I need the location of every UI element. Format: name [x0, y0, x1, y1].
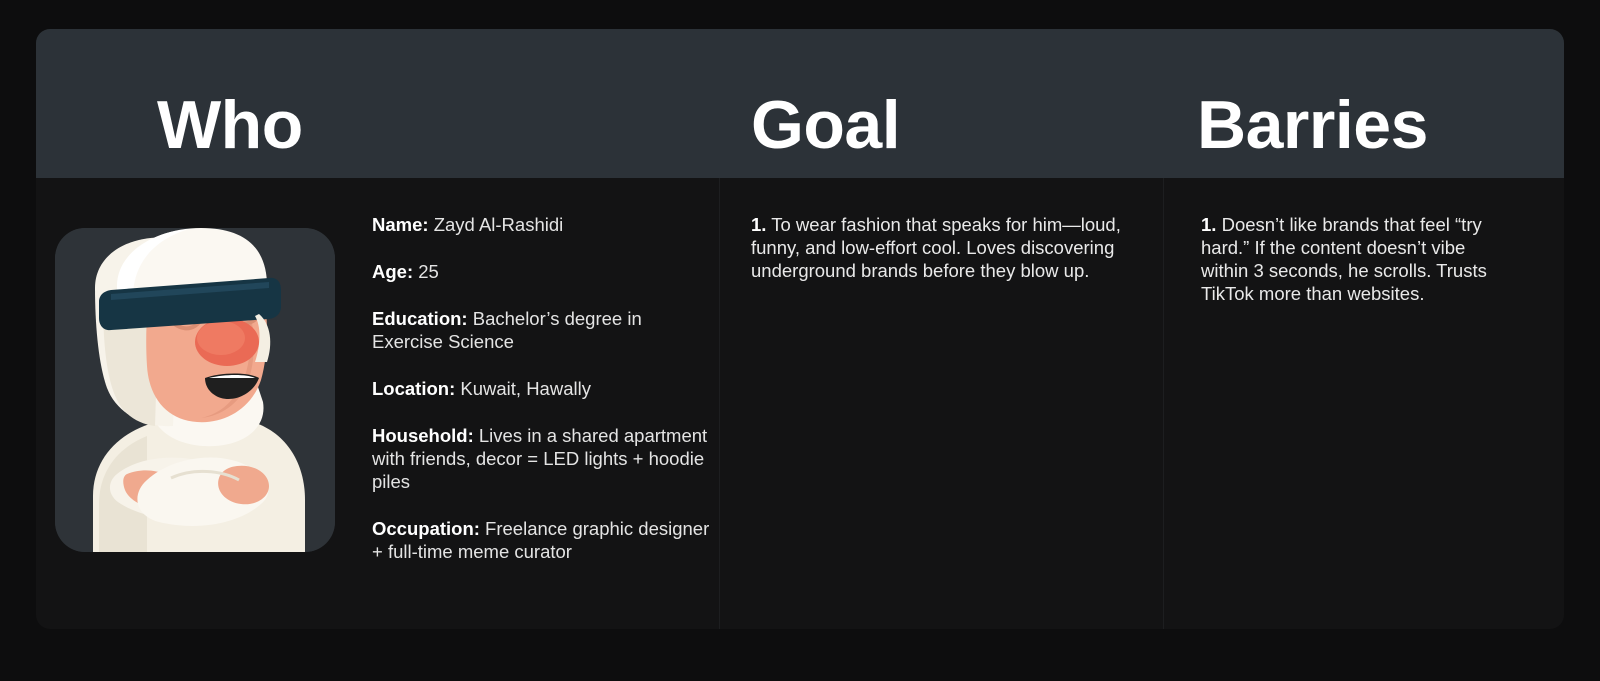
detail-row-education: Education: Bachelor’s degree in Exercise… [372, 307, 712, 353]
detail-row-age: Age: 25 [372, 260, 712, 283]
persona-card: Who Goal Barries [36, 29, 1564, 629]
column-goal: 1. To wear fashion that speaks for him—l… [719, 178, 1163, 629]
detail-value: Zayd Al-Rashidi [429, 214, 564, 235]
persona-avatar [55, 228, 335, 552]
detail-row-location: Location: Kuwait, Hawally [372, 377, 712, 400]
column-heading-goal: Goal [751, 91, 900, 159]
card-body: Name: Zayd Al-Rashidi Age: 25 Education:… [36, 178, 1564, 629]
column-heading-barries: Barries [1197, 91, 1428, 159]
detail-value: 25 [413, 261, 439, 282]
goal-item: 1. To wear fashion that speaks for him—l… [751, 213, 1131, 282]
detail-label: Age: [372, 261, 413, 282]
barries-item: 1. Doesn’t like brands that feel “try ha… [1201, 213, 1501, 305]
detail-label: Location: [372, 378, 455, 399]
column-heading-who: Who [157, 91, 303, 159]
barries-item-number: 1. [1201, 214, 1216, 235]
detail-label: Education: [372, 308, 468, 329]
detail-label: Occupation: [372, 518, 480, 539]
detail-row-occupation: Occupation: Freelance graphic designer +… [372, 517, 712, 563]
detail-row-household: Household: Lives in a shared apartment w… [372, 424, 712, 493]
detail-label: Name: [372, 214, 429, 235]
avatar-illustration-icon [55, 228, 335, 552]
card-header: Who Goal Barries [36, 29, 1564, 178]
goal-item-text: To wear fashion that speaks for him—loud… [751, 214, 1121, 281]
who-details-list: Name: Zayd Al-Rashidi Age: 25 Education:… [372, 213, 712, 563]
column-barries: 1. Doesn’t like brands that feel “try ha… [1163, 178, 1564, 629]
detail-value: Kuwait, Hawally [455, 378, 591, 399]
detail-row-name: Name: Zayd Al-Rashidi [372, 213, 712, 236]
detail-label: Household: [372, 425, 474, 446]
column-who: Name: Zayd Al-Rashidi Age: 25 Education:… [36, 178, 719, 629]
barries-item-text: Doesn’t like brands that feel “try hard.… [1201, 214, 1487, 304]
goal-item-number: 1. [751, 214, 766, 235]
